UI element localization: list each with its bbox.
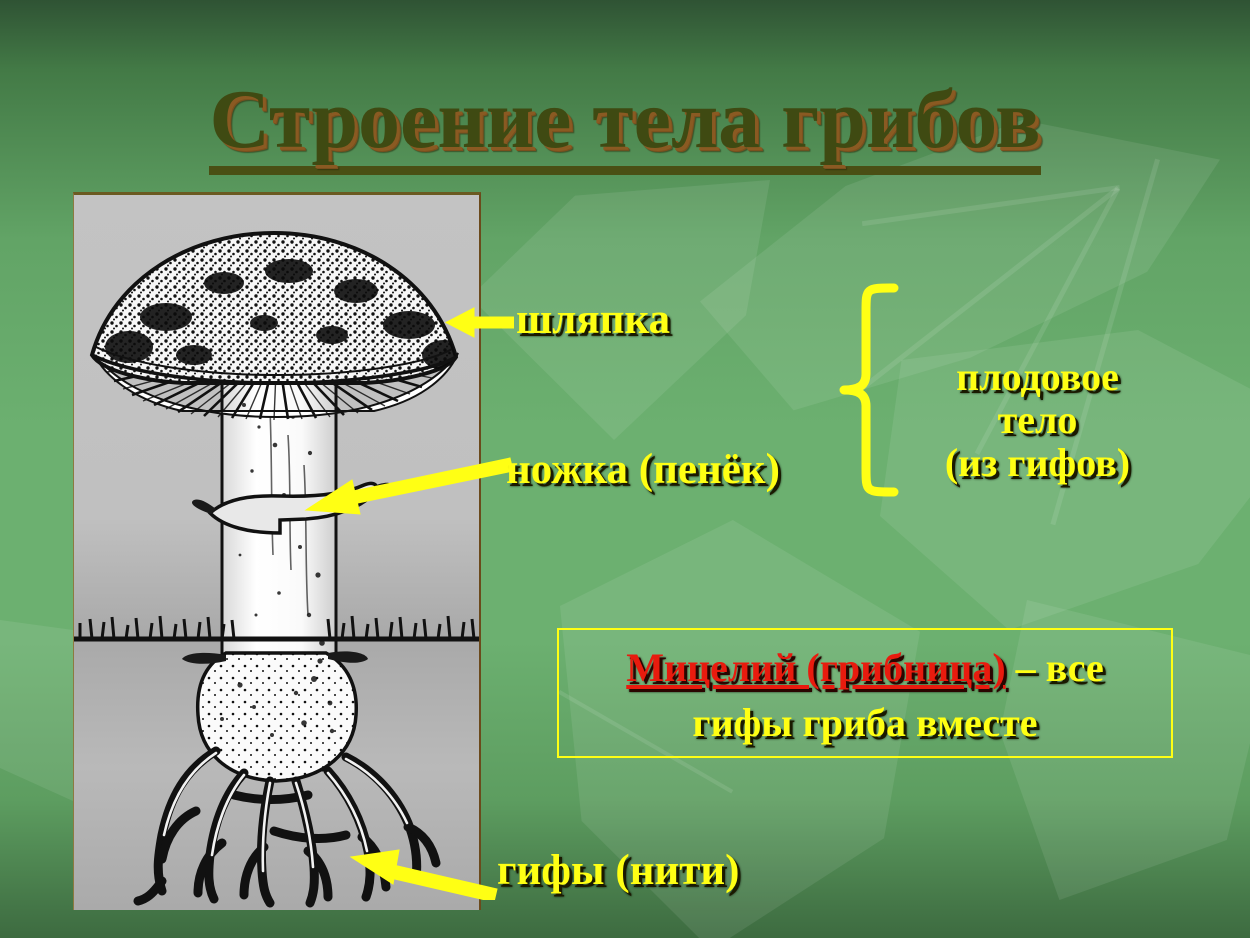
- label-fruiting-body-line-2: тело: [905, 398, 1170, 441]
- mycelium-dash-rest: – все: [1006, 645, 1104, 690]
- slide-title: Строение тела грибов: [0, 78, 1250, 175]
- fruiting-body-brace: [836, 282, 902, 498]
- mycelium-definition-line-1: Мицелий (грибница) – все: [559, 640, 1171, 695]
- label-fruiting-body: плодовое тело (из гифов): [905, 355, 1170, 485]
- slide-canvas: Строение тела грибов: [0, 0, 1250, 938]
- mycelium-definition-box: Мицелий (грибница) – все гифы гриба вмес…: [557, 628, 1173, 758]
- mushroom-illustration-panel: [73, 192, 481, 910]
- label-fruiting-body-line-3: (из гифов): [905, 441, 1170, 484]
- arrow-to-hyphae: [345, 838, 505, 900]
- arrow-to-stem: [300, 450, 515, 525]
- branch-line-2: [862, 185, 1120, 226]
- label-cap: шляпка: [516, 297, 670, 343]
- arrow-to-cap: [444, 300, 514, 346]
- mycelium-term: Мицелий (грибница): [626, 645, 1005, 690]
- mycelium-definition-line-2: гифы гриба вместе: [559, 695, 1171, 750]
- mushroom-drawing: [74, 195, 480, 910]
- label-hyphae: гифы (нити): [497, 848, 739, 894]
- label-fruiting-body-line-1: плодовое: [905, 355, 1170, 398]
- label-stem: ножка (пенёк): [506, 447, 780, 493]
- slide-title-text: Строение тела грибов: [209, 78, 1040, 175]
